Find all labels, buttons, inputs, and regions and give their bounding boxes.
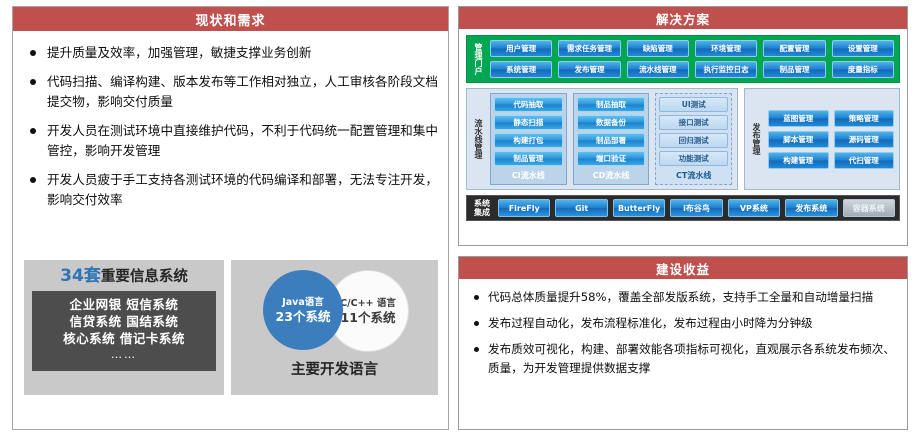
venn-cpp-label: C/C++ 语言 <box>340 297 396 310</box>
system-integration-items: FireFly Git ButterFly i布谷鸟 VP系统 发布系统 容器系… <box>498 199 895 217</box>
pipeline-step-function-test[interactable]: 功能测试 <box>659 151 728 166</box>
list-item: 信贷系统 国结系统 <box>70 313 179 330</box>
release-button-build[interactable]: 构建管理 <box>768 152 829 169</box>
list-item: 发布过程自动化，发布流程标准化，发布过程由小时降为分钟级 <box>471 314 895 333</box>
integration-item-cuckoo[interactable]: i布谷鸟 <box>670 199 722 217</box>
current-situation-bullets: 提升质量及效率，加强管理，敏捷支撑业务创新 代码扫描、编译构建、版本发布等工作相… <box>13 31 448 223</box>
pipeline-step-static-scan[interactable]: 静态扫描 <box>494 115 563 130</box>
benefits-bullets: 代码总体质量提升58%，覆盖全部发版系统，支持手工全量和自动增量扫描 发布过程自… <box>459 279 907 389</box>
release-management-grid: 蓝图管理 策略管理 脚本管理 源码管理 构建管理 代扫管理 <box>768 93 894 185</box>
stats-strip: 34套重要信息系统 企业网银 短信系统 信贷系统 国结系统 核心系统 借记卡系统… <box>24 260 438 395</box>
pipeline-step-artifact-extract[interactable]: 制品抽取 <box>577 97 646 112</box>
pipeline-step-port-verify[interactable]: 端口验证 <box>577 151 646 166</box>
pipeline-management-block: 流水线管理 代码抽取 静态扫描 构建打包 制品管理 CI流水线 制品抽取 数据备… <box>466 88 738 190</box>
venn-overlap-region <box>327 270 343 350</box>
portal-button-user-management[interactable]: 用户管理 <box>490 40 552 57</box>
integration-item-git[interactable]: Git <box>555 199 607 217</box>
solution-panel: 解决方案 管理门户 用户管理 需求任务管理 缺陷管理 环境管理 配置管理 设置管… <box>458 6 908 246</box>
pipeline-step-ui-test[interactable]: UI测试 <box>659 97 728 112</box>
important-systems-card: 34套重要信息系统 企业网银 短信系统 信贷系统 国结系统 核心系统 借记卡系统… <box>24 260 224 395</box>
pipeline-column-ci: 代码抽取 静态扫描 构建打包 制品管理 CI流水线 <box>490 93 567 185</box>
pipeline-column-cd: 制品抽取 数据备份 制品部署 端口验证 CD流水线 <box>573 93 650 185</box>
management-portal-label: 管理门户 <box>472 40 485 78</box>
pipeline-step-regression-test[interactable]: 回归测试 <box>659 133 728 148</box>
release-button-code-scan[interactable]: 代扫管理 <box>834 152 895 169</box>
portal-button-metrics[interactable]: 度量指标 <box>832 61 894 78</box>
language-card: Java语言 23个系统 C/C++ 语言 11个系统 主要开发语言 <box>231 260 438 395</box>
portal-button-settings[interactable]: 设置管理 <box>832 40 894 57</box>
integration-item-firefly[interactable]: FireFly <box>498 199 550 217</box>
portal-button-release-management[interactable]: 发布管理 <box>558 61 620 78</box>
list-item: 代码扫描、编译构建、版本发布等工作相对独立，人工审核各阶段文档提交物，影响交付质… <box>27 72 438 112</box>
list-item: 提升质量及效率，加强管理，敏捷支撑业务创新 <box>27 43 438 63</box>
portal-button-defect-management[interactable]: 缺陷管理 <box>627 40 689 57</box>
pipeline-column-ci-label: CI流水线 <box>494 170 563 182</box>
portal-button-system-management[interactable]: 系统管理 <box>490 61 552 78</box>
pipeline-release-row: 流水线管理 代码抽取 静态扫描 构建打包 制品管理 CI流水线 制品抽取 数据备… <box>466 88 900 190</box>
release-button-source-code[interactable]: 源码管理 <box>834 131 895 148</box>
pipeline-column-ct: UI测试 接口测试 回归测试 功能测试 CT流水线 <box>655 93 732 185</box>
portal-button-pipeline-management[interactable]: 流水线管理 <box>627 61 689 78</box>
list-item: 开发人员疲于手工支持各测试环境的代码编译和部署，无法专注开发，影响交付效率 <box>27 170 438 210</box>
pipeline-step-build-package[interactable]: 构建打包 <box>494 133 563 148</box>
venn-cpp-value: 11个系统 <box>341 310 396 326</box>
venn-java-value: 23个系统 <box>276 309 331 325</box>
current-situation-panel: 现状和需求 提升质量及效率，加强管理，敏捷支撑业务创新 代码扫描、编译构建、版本… <box>12 6 449 430</box>
list-item: 企业网银 短信系统 <box>70 296 179 313</box>
systems-count: 34套 <box>60 266 101 286</box>
release-button-script[interactable]: 脚本管理 <box>768 131 829 148</box>
important-systems-title: 34套重要信息系统 <box>32 266 216 287</box>
pipeline-step-interface-test[interactable]: 接口测试 <box>659 115 728 130</box>
pipeline-step-artifact-mgmt[interactable]: 制品管理 <box>494 151 563 166</box>
release-button-strategy[interactable]: 策略管理 <box>834 110 895 127</box>
release-management-block: 发布管理 蓝图管理 策略管理 脚本管理 源码管理 构建管理 代扫管理 <box>744 88 900 190</box>
integration-item-container-system[interactable]: 容器系统 <box>843 199 895 217</box>
ellipsis-text: …… <box>111 347 137 363</box>
release-management-label: 发布管理 <box>750 93 763 185</box>
portal-button-requirement-task[interactable]: 需求任务管理 <box>558 40 620 57</box>
list-item: 发布质效可视化，构建、部署效能各项指标可视化，直观展示各系统发布频次、质量，为开… <box>471 340 895 378</box>
management-portal-block: 管理门户 用户管理 需求任务管理 缺陷管理 环境管理 配置管理 设置管理 系统管… <box>466 35 900 83</box>
integration-item-vp-system[interactable]: VP系统 <box>728 199 780 217</box>
list-item: 核心系统 借记卡系统 <box>63 330 185 347</box>
slide-root: 现状和需求 提升质量及效率，加强管理，敏捷支撑业务创新 代码扫描、编译构建、版本… <box>0 0 919 436</box>
management-portal-grid: 用户管理 需求任务管理 缺陷管理 环境管理 配置管理 设置管理 系统管理 发布管… <box>490 40 894 78</box>
benefits-panel: 建设收益 代码总体质量提升58%，覆盖全部发版系统，支持手工全量和自动增量扫描 … <box>458 256 908 430</box>
pipeline-step-artifact-deploy[interactable]: 制品部署 <box>577 133 646 148</box>
pipeline-column-cd-label: CD流水线 <box>577 170 646 182</box>
list-item: 代码总体质量提升58%，覆盖全部发版系统，支持手工全量和自动增量扫描 <box>471 288 895 307</box>
system-integration-label: 系统集成 <box>471 199 493 217</box>
current-situation-title: 现状和需求 <box>13 7 448 31</box>
portal-button-environment[interactable]: 环境管理 <box>695 40 757 57</box>
integration-item-release-system[interactable]: 发布系统 <box>785 199 837 217</box>
solution-diagram: 管理门户 用户管理 需求任务管理 缺陷管理 环境管理 配置管理 设置管理 系统管… <box>459 29 907 226</box>
portal-button-configuration[interactable]: 配置管理 <box>763 40 825 57</box>
system-integration-block: 系统集成 FireFly Git ButterFly i布谷鸟 VP系统 发布系… <box>466 195 900 221</box>
pipeline-column-ct-label: CT流水线 <box>659 170 728 182</box>
systems-name-box: 企业网银 短信系统 信贷系统 国结系统 核心系统 借记卡系统 …… <box>32 291 216 371</box>
venn-java-label: Java语言 <box>282 296 324 309</box>
pipeline-columns: 代码抽取 静态扫描 构建打包 制品管理 CI流水线 制品抽取 数据备份 制品部署… <box>490 93 732 185</box>
systems-title-rest: 重要信息系统 <box>101 269 188 285</box>
pipeline-step-data-backup[interactable]: 数据备份 <box>577 115 646 130</box>
pipeline-management-label: 流水线管理 <box>472 93 485 185</box>
portal-button-execution-log[interactable]: 执行监控日志 <box>695 61 757 78</box>
list-item: 开发人员在测试环境中直接维护代码，不利于代码统一配置管理和集中管控，影响开发管理 <box>27 121 438 161</box>
solution-title: 解决方案 <box>459 7 907 29</box>
integration-item-butterfly[interactable]: ButterFly <box>613 199 665 217</box>
pipeline-step-code-extract[interactable]: 代码抽取 <box>494 97 563 112</box>
benefits-title: 建设收益 <box>459 257 907 279</box>
release-button-blueprint[interactable]: 蓝图管理 <box>768 110 829 127</box>
venn-diagram: Java语言 23个系统 C/C++ 语言 11个系统 <box>235 264 434 356</box>
portal-button-artifact[interactable]: 制品管理 <box>763 61 825 78</box>
language-card-caption: 主要开发语言 <box>235 358 434 379</box>
